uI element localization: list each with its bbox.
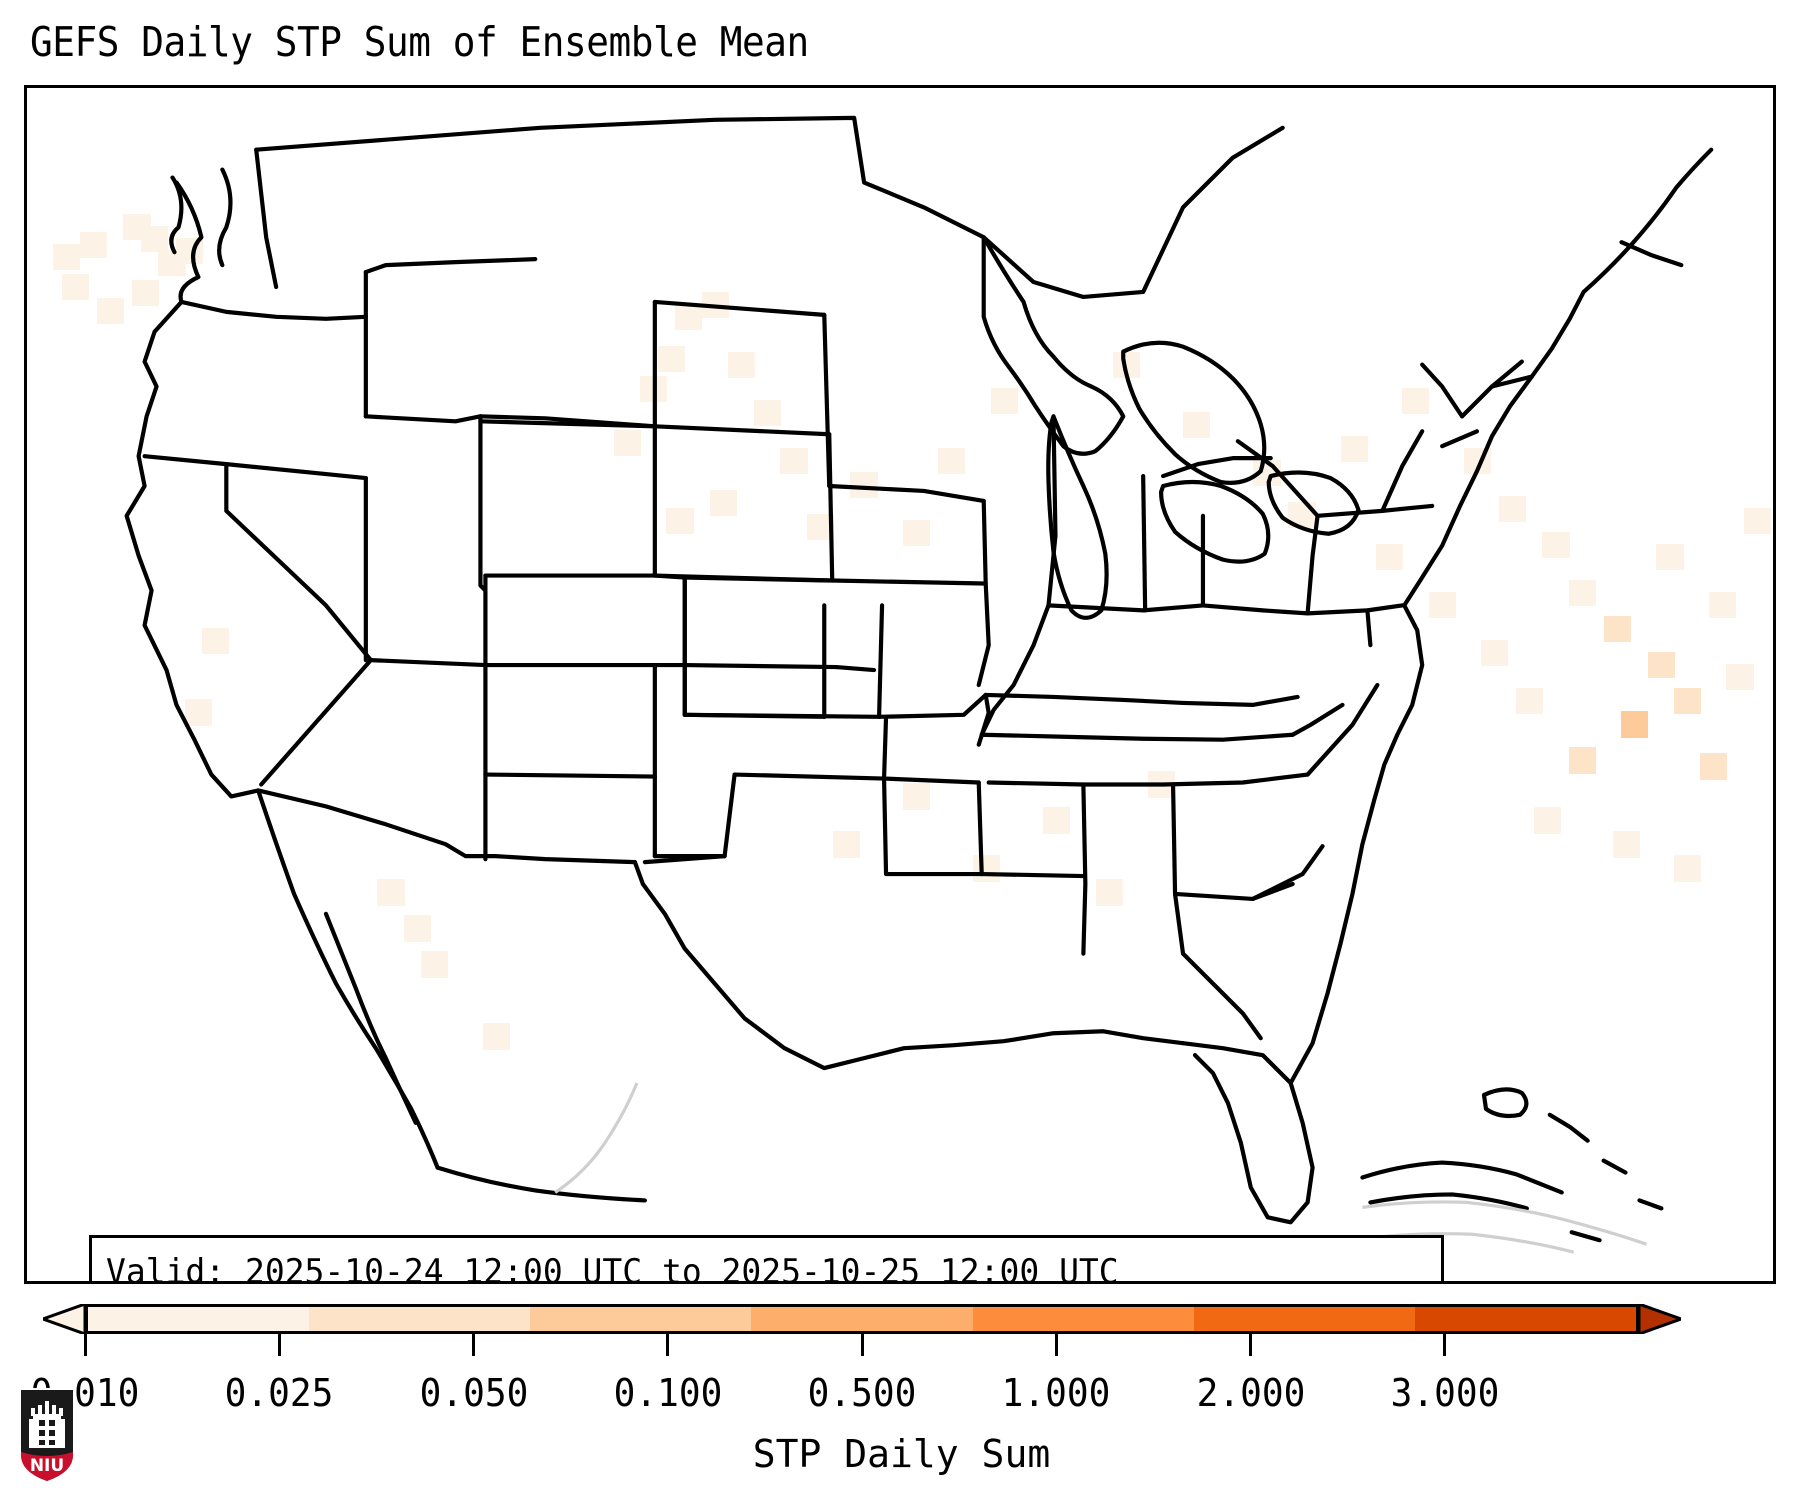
valid-time-line: Valid: 2025-10-24 12:00 UTC to 2025-10-2…: [106, 1248, 1387, 1284]
colorbar-tick-labels: 0.0100.0250.0500.1000.5001.0002.0003.000: [0, 1371, 1803, 1425]
colorbar-band-5: [1194, 1307, 1415, 1331]
info-box: Valid: 2025-10-24 12:00 UTC to 2025-10-2…: [89, 1235, 1444, 1284]
niu-logo-text: NIU: [30, 1456, 64, 1476]
colorbar-extend-low-arrow: [43, 1304, 85, 1334]
colorbar-tick-1: [278, 1334, 281, 1356]
colorbar-band-1: [309, 1307, 530, 1331]
colorbar-tick-label-3: 0.100: [613, 1371, 722, 1415]
colorbar-tick-6: [1249, 1334, 1252, 1356]
colorbar-extend-high-arrow: [1639, 1304, 1681, 1334]
colorbar-band-4: [973, 1307, 1194, 1331]
colorbar-tick-7: [1443, 1334, 1446, 1356]
niu-logo: NIU: [16, 1386, 78, 1486]
colorbar-band-2: [530, 1307, 751, 1331]
colorbar-tick-label-4: 0.500: [808, 1371, 917, 1415]
colorbar-gradient: [85, 1304, 1639, 1334]
colorbar-band-6: [1415, 1307, 1636, 1331]
colorbar-tick-label-6: 2.000: [1196, 1371, 1305, 1415]
colorbar-tick-0: [84, 1334, 87, 1356]
colorbar-band-0: [88, 1307, 309, 1331]
page-title: GEFS Daily STP Sum of Ensemble Mean: [30, 18, 809, 66]
colorbar-tick-4: [861, 1334, 864, 1356]
colorbar-band-3: [751, 1307, 972, 1331]
figure-root: GEFS Daily STP Sum of Ensemble Mean: [0, 0, 1803, 1500]
colorbar-tick-5: [1055, 1334, 1058, 1356]
colorbar-tick-label-7: 3.000: [1390, 1371, 1499, 1415]
colorbar-tick-3: [666, 1334, 669, 1356]
colorbar[interactable]: [0, 1296, 1803, 1356]
colorbar-axis-title: STP Daily Sum: [0, 1432, 1803, 1476]
colorbar-tick-2: [472, 1334, 475, 1356]
colorbar-tick-label-1: 0.025: [225, 1371, 334, 1415]
colorbar-tick-label-5: 1.000: [1002, 1371, 1111, 1415]
map-panel[interactable]: Valid: 2025-10-24 12:00 UTC to 2025-10-2…: [24, 85, 1776, 1284]
map-geography: [27, 88, 1773, 1281]
colorbar-tick-label-2: 0.050: [419, 1371, 528, 1415]
